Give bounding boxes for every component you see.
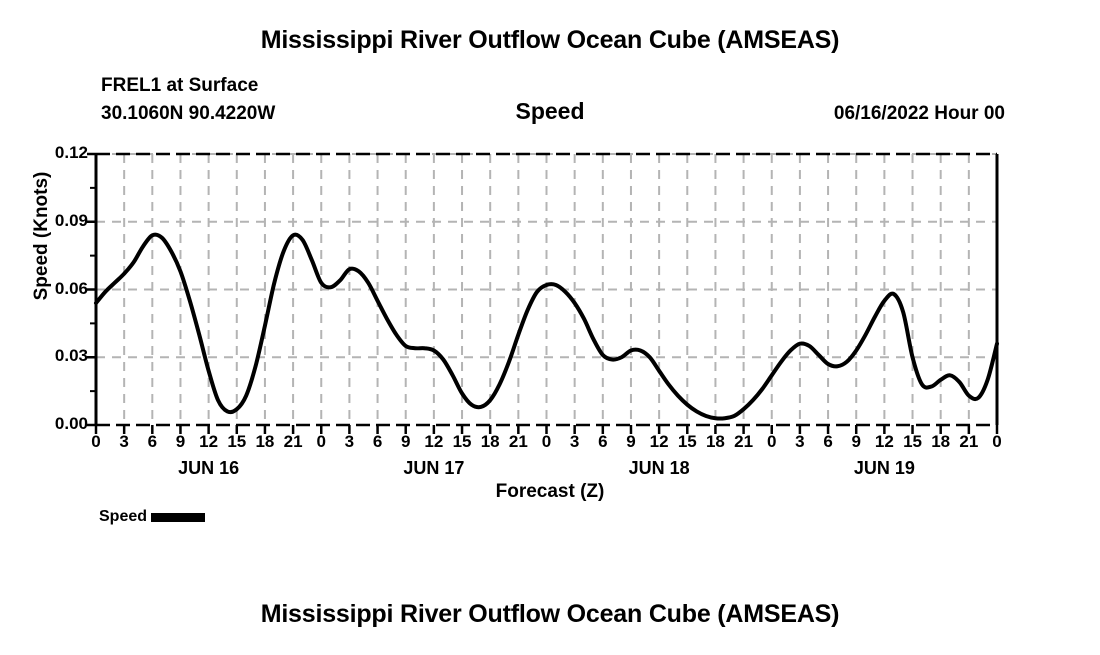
x-tick-label: 0 — [757, 432, 787, 452]
y-tick-label: 0.03 — [55, 346, 88, 366]
x-tick-label: 12 — [419, 432, 449, 452]
x-tick-label: 6 — [588, 432, 618, 452]
x-tick-label: 9 — [616, 432, 646, 452]
x-tick-label: 21 — [729, 432, 759, 452]
x-tick-label: 9 — [841, 432, 871, 452]
x-tick-label: 9 — [391, 432, 421, 452]
x-tick-label: 0 — [306, 432, 336, 452]
x-tick-label: 18 — [926, 432, 956, 452]
x-tick-label: 0 — [982, 432, 1012, 452]
x-tick-label: 21 — [954, 432, 984, 452]
chart-legend: Speed — [99, 508, 205, 526]
x-tick-label: 0 — [81, 432, 111, 452]
x-axis-day-label: JUN 19 — [814, 458, 954, 479]
x-tick-label: 12 — [194, 432, 224, 452]
y-tick-label: 0.06 — [55, 279, 88, 299]
x-tick-label: 15 — [222, 432, 252, 452]
x-tick-label: 15 — [672, 432, 702, 452]
y-tick-label: 0.00 — [55, 414, 88, 434]
x-tick-label: 6 — [813, 432, 843, 452]
x-axis-title: Forecast (Z) — [340, 481, 760, 503]
legend-swatch-speed — [151, 513, 205, 522]
x-tick-label: 12 — [644, 432, 674, 452]
x-tick-label: 15 — [898, 432, 928, 452]
x-axis-day-label: JUN 16 — [139, 458, 279, 479]
x-tick-label: 6 — [137, 432, 167, 452]
x-tick-label: 18 — [475, 432, 505, 452]
x-tick-label: 18 — [250, 432, 280, 452]
x-tick-label: 3 — [785, 432, 815, 452]
speed-time-series-chart — [0, 0, 1100, 650]
series-line-speed — [96, 235, 997, 419]
x-tick-label: 18 — [700, 432, 730, 452]
x-tick-label: 9 — [165, 432, 195, 452]
x-tick-label: 3 — [109, 432, 139, 452]
legend-label-speed: Speed — [99, 508, 147, 526]
x-tick-label: 15 — [447, 432, 477, 452]
x-tick-label: 3 — [334, 432, 364, 452]
x-tick-label: 0 — [532, 432, 562, 452]
y-axis-tick-labels: 0.000.030.060.090.12 — [30, 0, 88, 650]
x-tick-label: 12 — [869, 432, 899, 452]
page-title-bottom: Mississippi River Outflow Ocean Cube (AM… — [0, 600, 1100, 629]
x-axis-day-label: JUN 18 — [589, 458, 729, 479]
y-tick-label: 0.09 — [55, 211, 88, 231]
x-tick-label: 21 — [278, 432, 308, 452]
x-tick-label: 6 — [363, 432, 393, 452]
chart-plot-area: Speed (Knots) 0.000.030.060.090.12 03691… — [0, 0, 1100, 650]
y-tick-label: 0.12 — [55, 143, 88, 163]
x-tick-label: 3 — [560, 432, 590, 452]
x-tick-label: 21 — [503, 432, 533, 452]
x-axis-day-label: JUN 17 — [364, 458, 504, 479]
